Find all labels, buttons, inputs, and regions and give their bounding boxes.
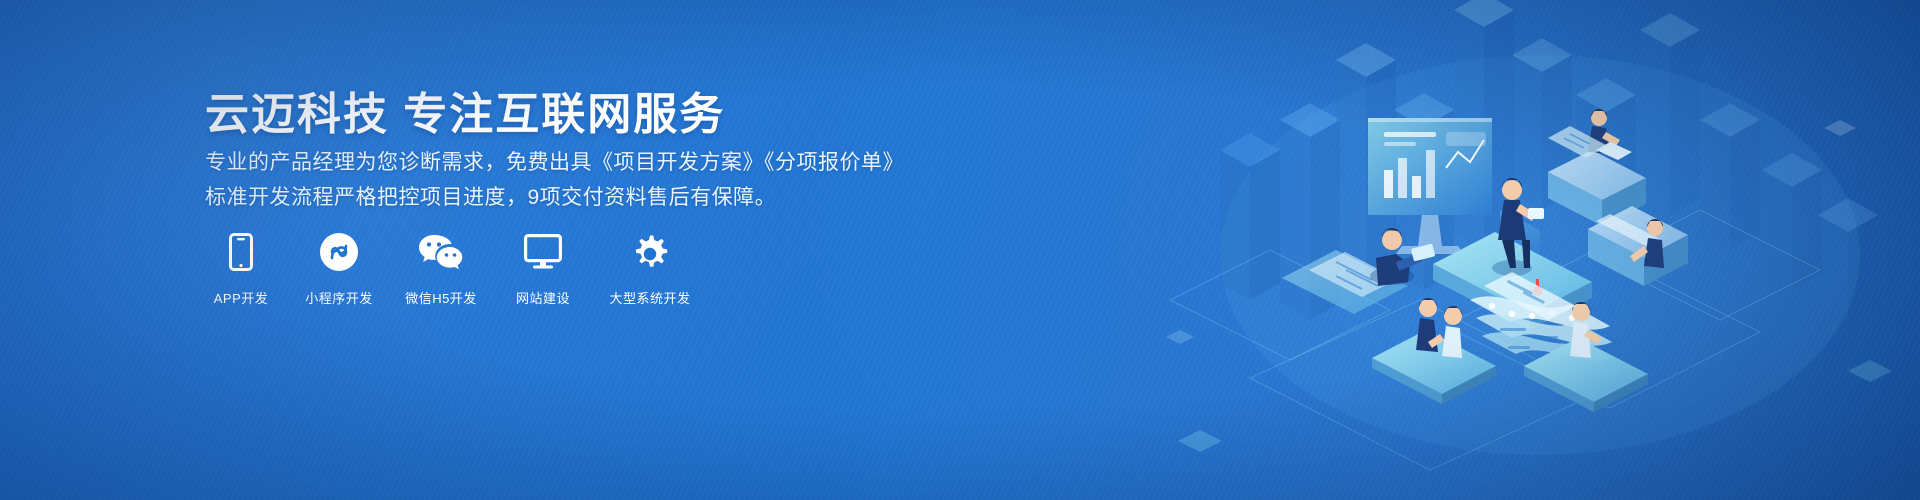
- gear-icon: [631, 232, 669, 272]
- mobile-phone-icon: [229, 232, 253, 272]
- service-list: APP开发 小程序开发: [205, 232, 695, 307]
- subtitle-line-1: 专业的产品经理为您诊断需求，免费出具《项目开发方案》《分项报价单》: [205, 146, 904, 176]
- service-label: 大型系统开发: [609, 288, 690, 307]
- mini-program-icon: [319, 232, 359, 272]
- wechat-icon: [418, 232, 464, 272]
- service-item-website[interactable]: 网站建设: [507, 232, 579, 307]
- service-label: 微信H5开发: [405, 288, 477, 307]
- service-label: 小程序开发: [305, 288, 373, 307]
- page-title: 云迈科技 专注互联网服务: [205, 78, 725, 142]
- illustration-svg: [1140, 0, 1920, 500]
- subtitle-line-2: 标准开发流程严格把控项目进度，9项交付资料售后有保障。: [205, 181, 776, 211]
- service-label: APP开发: [214, 288, 269, 307]
- illustration-isometric-digital-team: [1140, 0, 1920, 500]
- banner-content: 云迈科技 专注互联网服务 专业的产品经理为您诊断需求，免费出具《项目开发方案》《…: [205, 0, 1105, 500]
- service-item-large-system[interactable]: 大型系统开发: [605, 232, 695, 307]
- monitor-icon: [524, 232, 562, 272]
- service-item-app[interactable]: APP开发: [205, 232, 277, 307]
- service-label: 网站建设: [516, 288, 570, 307]
- service-item-miniprogram[interactable]: 小程序开发: [303, 232, 375, 307]
- service-item-wechat-h5[interactable]: 微信H5开发: [401, 232, 481, 307]
- hero-banner: 云迈科技 专注互联网服务 专业的产品经理为您诊断需求，免费出具《项目开发方案》《…: [0, 0, 1920, 500]
